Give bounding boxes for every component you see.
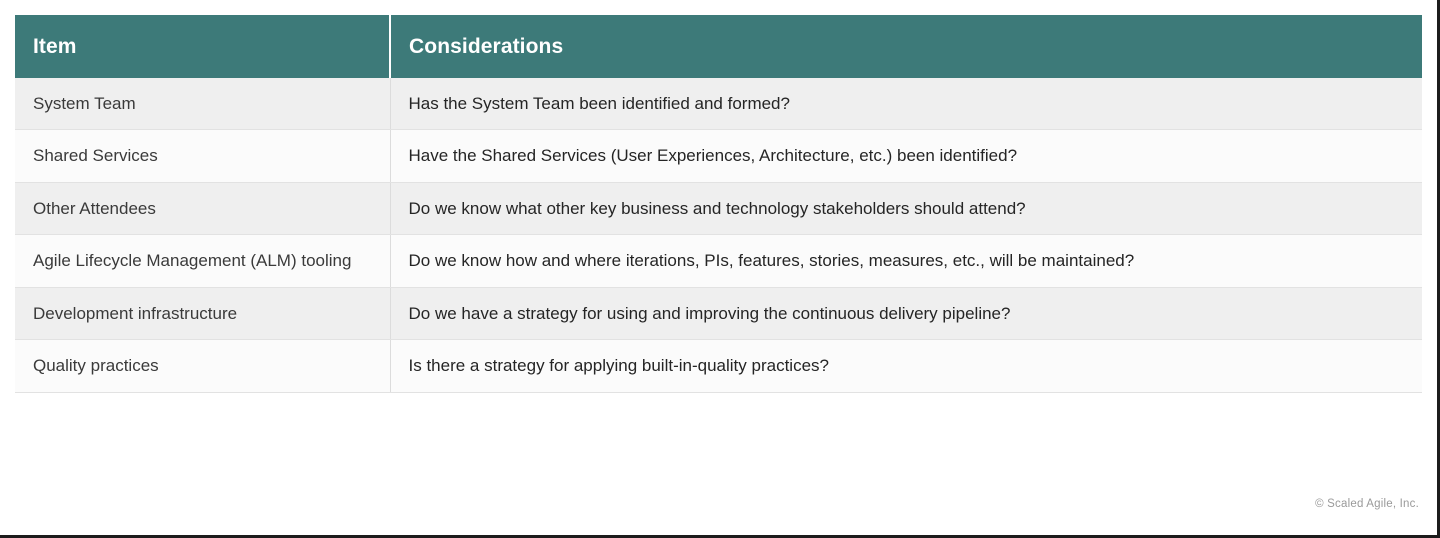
cell-considerations: Has the System Team been identified and … xyxy=(390,78,1422,130)
copyright-notice: © Scaled Agile, Inc. xyxy=(1315,498,1419,510)
checklist-table-container: Item Considerations System Team Has the … xyxy=(15,15,1422,393)
cell-item: Agile Lifecycle Management (ALM) tooling xyxy=(15,235,390,287)
cell-item: Development infrastructure xyxy=(15,287,390,339)
cell-considerations: Have the Shared Services (User Experienc… xyxy=(390,130,1422,182)
table-row: Agile Lifecycle Management (ALM) tooling… xyxy=(15,235,1422,287)
cell-item: System Team xyxy=(15,78,390,130)
table-header-row: Item Considerations xyxy=(15,15,1422,78)
cell-item: Shared Services xyxy=(15,130,390,182)
column-header-considerations: Considerations xyxy=(390,15,1422,78)
cell-item: Quality practices xyxy=(15,340,390,392)
cell-considerations: Is there a strategy for applying built-i… xyxy=(390,340,1422,392)
table-row: System Team Has the System Team been ide… xyxy=(15,78,1422,130)
column-header-item: Item xyxy=(15,15,390,78)
cell-considerations: Do we have a strategy for using and impr… xyxy=(390,287,1422,339)
cell-considerations: Do we know how and where iterations, PIs… xyxy=(390,235,1422,287)
table-row: Quality practices Is there a strategy fo… xyxy=(15,340,1422,392)
table-body: System Team Has the System Team been ide… xyxy=(15,78,1422,392)
cell-considerations: Do we know what other key business and t… xyxy=(390,182,1422,234)
table-row: Shared Services Have the Shared Services… xyxy=(15,130,1422,182)
page-canvas: Item Considerations System Team Has the … xyxy=(0,0,1440,538)
cell-item: Other Attendees xyxy=(15,182,390,234)
checklist-table: Item Considerations System Team Has the … xyxy=(15,15,1422,393)
table-row: Other Attendees Do we know what other ke… xyxy=(15,182,1422,234)
table-header: Item Considerations xyxy=(15,15,1422,78)
table-row: Development infrastructure Do we have a … xyxy=(15,287,1422,339)
